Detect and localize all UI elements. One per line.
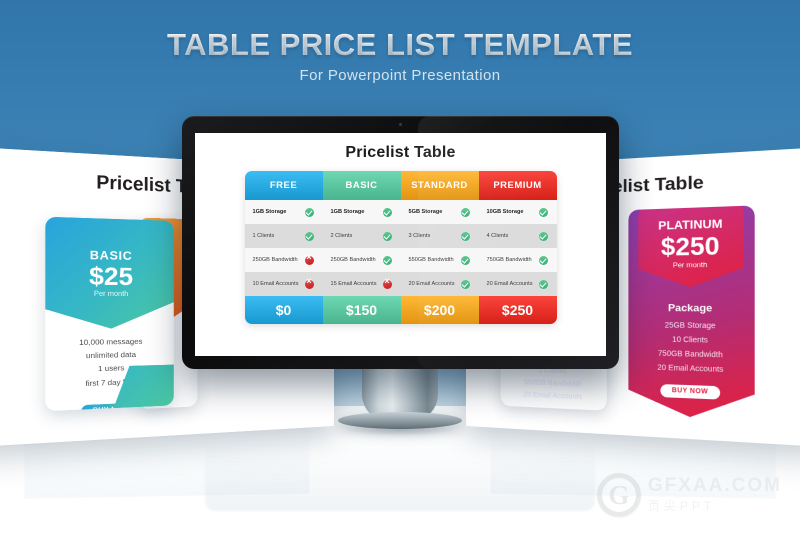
feature-label: 2 Clients [331, 233, 353, 239]
table-body: 1GB Storage1GB Storage5GB Storage10GB St… [245, 200, 557, 296]
card-basic-header: BASIC $25 Per month [45, 217, 173, 330]
check-icon [461, 280, 470, 289]
table-price-basic[interactable]: $150 [323, 296, 401, 324]
card-platinum-package-label: Package [628, 302, 754, 315]
check-icon [539, 208, 548, 217]
cross-icon [383, 280, 392, 289]
table-cell-free: 1GB Storage [245, 200, 323, 224]
table-cell-standard: 550GB Bandwidth [401, 248, 479, 272]
table-row: 10 Email Accounts15 Email Accounts20 Ema… [245, 272, 557, 296]
table-cell-premium: 20 Email Accounts [479, 272, 557, 296]
feature-label: 250GB Bandwidth [331, 257, 376, 263]
table-row: 1 Clients2 Clients3 Clients4 Clients [245, 224, 557, 248]
table-header-basic[interactable]: BASIC [323, 171, 401, 200]
table-cell-basic: 1GB Storage [323, 200, 401, 224]
feature-label: 250GB Bandwidth [253, 257, 298, 263]
table-cell-basic: 250GB Bandwidth [323, 248, 401, 272]
feature-label: 4 Clients [487, 233, 509, 239]
table-row: 250GB Bandwidth250GB Bandwidth550GB Band… [245, 248, 557, 272]
card-basic-period: Per month [94, 290, 128, 298]
card-platinum-buy-button[interactable]: BUY NOW [661, 384, 720, 400]
check-icon [539, 256, 548, 265]
check-icon [461, 232, 470, 241]
table-cell-basic: 2 Clients [323, 224, 401, 248]
feature-label: 10GB Storage [487, 209, 524, 215]
pricing-card-platinum[interactable]: PLATINUM $250 Per month Package 25GB Sto… [628, 205, 754, 420]
check-icon [461, 208, 470, 217]
table-header-standard[interactable]: STANDARD [401, 171, 479, 200]
check-icon [305, 208, 314, 217]
monitor-reflection [205, 425, 595, 511]
table-cell-standard: 20 Email Accounts [401, 272, 479, 296]
cross-icon [305, 256, 314, 265]
table-cell-standard: 3 Clients [401, 224, 479, 248]
monitor-screen: Pricelist Table FREE BASIC STANDARD PREM… [195, 133, 606, 356]
feature-label: 3 Clients [409, 233, 431, 239]
cross-icon [305, 280, 314, 289]
monitor-bezel: Pricelist Table FREE BASIC STANDARD PREM… [182, 116, 619, 369]
monitor: Pricelist Table FREE BASIC STANDARD PREM… [182, 116, 619, 369]
table-header-row: FREE BASIC STANDARD PREMIUM [245, 171, 557, 200]
table-cell-free: 1 Clients [245, 224, 323, 248]
table-cell-premium: 750GB Bandwidth [479, 248, 557, 272]
table-header-free[interactable]: FREE [245, 171, 323, 200]
table-footer-row: $0 $150 $200 $250 [245, 296, 557, 324]
feature-label: 1 Clients [253, 233, 275, 239]
table-cell-free: 250GB Bandwidth [245, 248, 323, 272]
pricing-card-basic[interactable]: BASIC $25 Per month 10,000 messages unli… [45, 217, 173, 411]
feature-label: 20 Email Accounts [487, 281, 533, 287]
table-cell-basic: 15 Email Accounts [323, 272, 401, 296]
page-title: TABLE PRICE LIST TEMPLATE [0, 28, 800, 62]
hero-title-block: TABLE PRICE LIST TEMPLATE For Powerpoint… [0, 28, 800, 84]
table-cell-premium: 4 Clients [479, 224, 557, 248]
card-platinum-price: $250 [661, 231, 720, 262]
check-icon [539, 232, 548, 241]
card-platinum-features: Package 25GB Storage 10 Clients 750GB Ba… [628, 302, 754, 400]
feature-label: 20 Email Accounts [409, 281, 455, 287]
table-cell-premium: 10GB Storage [479, 200, 557, 224]
table-cell-standard: 5GB Storage [401, 200, 479, 224]
monitor-stand-base [338, 412, 462, 429]
table-cell-free: 10 Email Accounts [245, 272, 323, 296]
feature-label: 10 Email Accounts [253, 281, 299, 287]
check-icon [539, 280, 548, 289]
check-icon [305, 232, 314, 241]
check-icon [383, 256, 392, 265]
check-icon [383, 232, 392, 241]
watermark-domain: GFXAA.COM [648, 476, 782, 495]
feature-label: 550GB Bandwidth [409, 257, 454, 263]
feature-label: 1GB Storage [331, 209, 365, 215]
table-row: 1GB Storage1GB Storage5GB Storage10GB St… [245, 200, 557, 224]
watermark-subtitle: 页尖PPT [648, 497, 782, 514]
table-price-standard[interactable]: $200 [401, 296, 479, 324]
table-price-premium[interactable]: $250 [479, 296, 557, 324]
feature-label: 5GB Storage [409, 209, 443, 215]
card-basic-price: $25 [89, 262, 133, 289]
pricelist-table-title: Pricelist Table [195, 133, 606, 171]
webcam-icon [399, 123, 402, 126]
check-icon [461, 256, 470, 265]
pricelist-table: FREE BASIC STANDARD PREMIUM 1GB Storage1… [245, 171, 557, 324]
watermark: G GFXAA.COM 页尖PPT [597, 473, 782, 517]
gfxaa-logo-icon: G [597, 473, 641, 517]
feature-label: 750GB Bandwidth [487, 257, 532, 263]
check-icon [383, 208, 392, 217]
table-header-premium[interactable]: PREMIUM [479, 171, 557, 200]
feature-label: 15 Email Accounts [331, 281, 377, 287]
table-price-free[interactable]: $0 [245, 296, 323, 324]
feature-label: 1GB Storage [253, 209, 287, 215]
page-subtitle: For Powerpoint Presentation [0, 67, 800, 84]
card-platinum-period: Per month [673, 262, 707, 270]
